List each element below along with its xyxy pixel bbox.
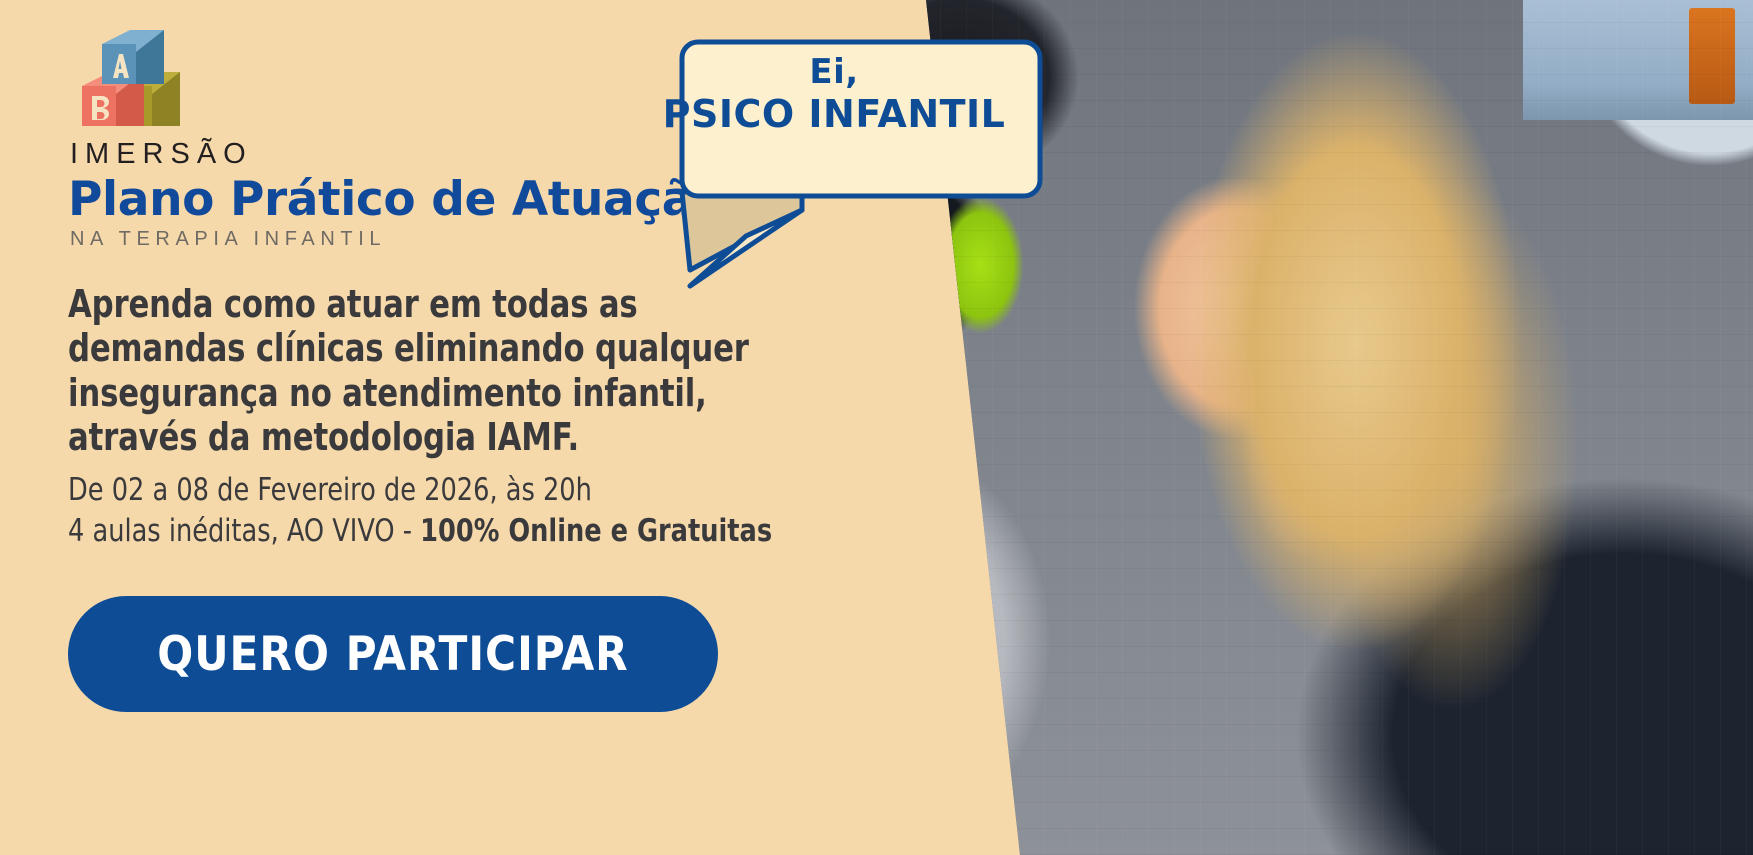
speech-bubble: Ei, PSICO INFANTIL [630,14,1060,299]
headline-line-2: demandas clínicas eliminando qualquer [68,326,806,370]
bubble-tail-upper-shape [682,192,802,270]
block-a-icon [102,30,164,84]
event-details-prefix: 4 aulas inéditas, AO VIVO - [68,513,420,549]
eyebrow-imersao: IMERSÃO [70,138,253,171]
page-subtitle: NA TERAPIA INFANTIL [70,228,386,251]
quero-participar-button[interactable]: QUERO PARTICIPAR [68,596,718,712]
bubble-body [682,42,1040,196]
event-details-emphasis: 100% Online e Gratuitas [420,513,772,549]
event-info: De 02 a 08 de Fevereiro de 2026, às 20h … [68,470,896,552]
headline: Aprenda como atuar em todas as demandas … [68,282,806,460]
event-date-line: De 02 a 08 de Fevereiro de 2026, às 20h [68,470,896,511]
headline-line-3: insegurança no atendimento infantil, [68,371,806,415]
abc-blocks-logo [70,28,188,136]
promo-banner: IMERSÃO Plano Prático de Atuação NA TERA… [0,0,1753,855]
event-details-line: 4 aulas inéditas, AO VIVO - 100% Online … [68,511,896,552]
page-title: Plano Prático de Atuação [68,172,725,227]
headline-line-4: através da metodologia IAMF. [68,415,806,459]
